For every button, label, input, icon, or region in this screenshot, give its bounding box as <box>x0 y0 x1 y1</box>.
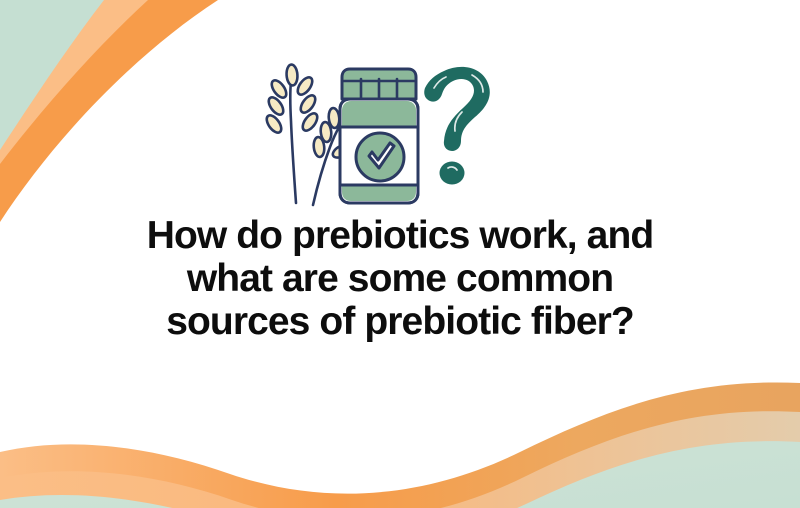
headline-line-2: what are some common <box>0 257 800 300</box>
headline-line-1: How do prebiotics work, and <box>0 214 800 257</box>
wheat-stalk-left-icon <box>264 64 320 203</box>
top-orange-band <box>0 0 218 222</box>
headline-line-3: sources of prebiotic fiber? <box>0 300 800 343</box>
top-mint-band <box>0 0 150 182</box>
top-light-orange-band <box>0 0 196 219</box>
checkmark-badge-icon <box>356 133 404 181</box>
question-mark-dot <box>440 162 465 185</box>
bottom-mint-base <box>0 441 800 508</box>
bottle-base <box>342 185 416 201</box>
bottom-tan-band <box>0 411 800 508</box>
question-mark-icon <box>424 67 490 185</box>
question-mark-hook <box>424 67 490 151</box>
bottom-orange-band <box>0 382 800 508</box>
slide-canvas: How do prebiotics work, and what are som… <box>0 0 800 508</box>
illustration-group <box>258 55 508 215</box>
bottle-shoulder <box>342 101 416 127</box>
page-title: How do prebiotics work, and what are som… <box>0 214 800 343</box>
illustration-svg <box>258 55 508 215</box>
